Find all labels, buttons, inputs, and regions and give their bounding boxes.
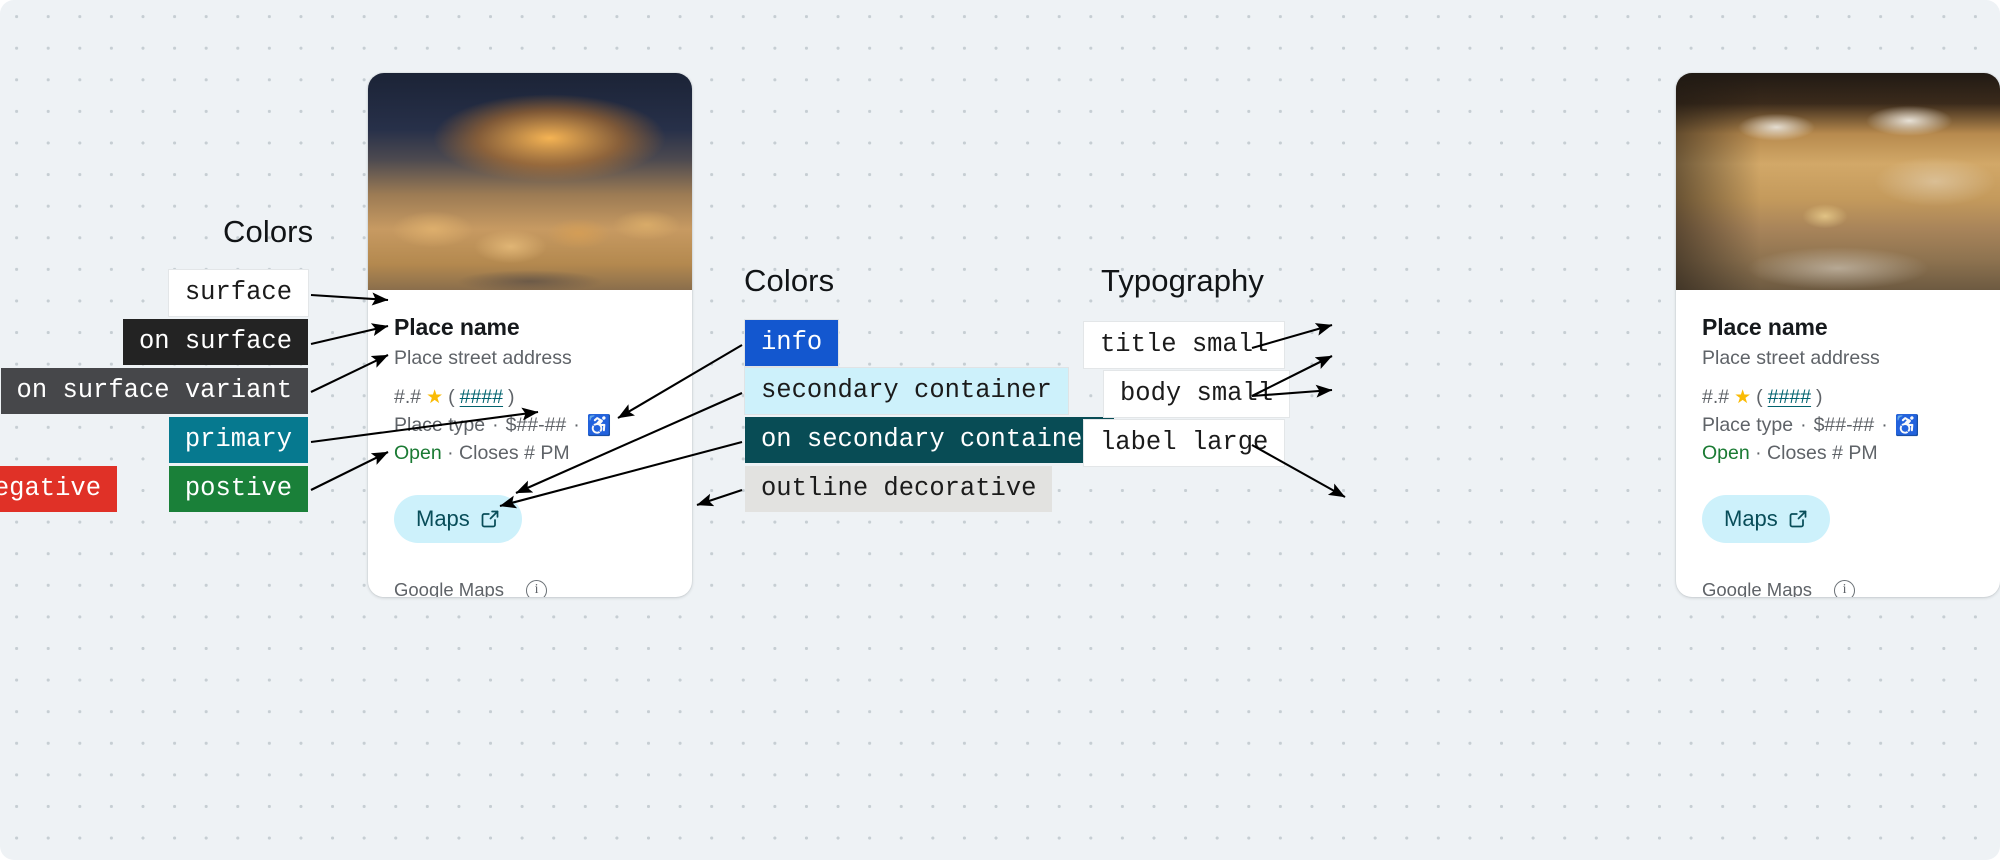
star-icon: ★ — [426, 388, 443, 407]
color-chip-positive[interactable]: postive — [169, 466, 308, 512]
info-icon[interactable]: i — [1834, 580, 1855, 598]
type-chip-label: body small — [1120, 381, 1273, 407]
color-chip-label: primary — [185, 427, 292, 453]
heading-colors-middle: Colors — [744, 263, 834, 299]
place-type: Place type — [394, 414, 485, 437]
wheelchair-icon: ♿ — [1895, 416, 1920, 436]
maps-button[interactable]: Maps — [1702, 495, 1830, 543]
color-chip-on-surface-variant[interactable]: on surface variant — [1, 368, 308, 414]
rating-paren-open: ( — [1756, 386, 1763, 409]
maps-button[interactable]: Maps — [394, 495, 522, 543]
external-link-icon — [1788, 509, 1808, 529]
color-chip-label: secondary container — [761, 378, 1052, 404]
place-hours-row: Open · Closes # PM — [1702, 442, 1974, 465]
meta-separator-2: · — [1881, 414, 1888, 437]
attribution-label: Google Maps — [1702, 579, 1812, 597]
arrow-outline-decorative — [697, 490, 742, 505]
attribution-label: Google Maps — [394, 579, 504, 597]
place-meta-row: Place type · $##-## · ♿ — [394, 414, 666, 437]
design-annotation-canvas: Colors Colors Typography surface on surf… — [0, 0, 2000, 860]
place-photo — [1676, 73, 2000, 290]
open-status: Open — [394, 442, 442, 464]
meta-separator-1: · — [1800, 414, 1807, 437]
meta-separator-1: · — [492, 414, 499, 437]
rating-paren-close: ) — [508, 386, 515, 409]
place-card-body: Place name Place street address #.# ★ (#… — [368, 290, 692, 597]
place-card-footer: Google Maps i — [1702, 579, 1974, 597]
place-address: Place street address — [394, 347, 666, 370]
color-chip-label: postive — [185, 476, 292, 502]
info-icon[interactable]: i — [526, 580, 547, 598]
hours-separator: · — [1755, 442, 1762, 464]
closing-time: Closes # PM — [459, 442, 570, 464]
place-type: Place type — [1702, 414, 1793, 437]
place-name: Place name — [394, 314, 666, 341]
open-status: Open — [1702, 442, 1750, 464]
color-chip-label: info — [761, 330, 822, 356]
rating-value: #.# — [1702, 386, 1729, 409]
color-chip-on-secondary-container[interactable]: on secondary container — [745, 417, 1114, 463]
color-chip-label: on secondary container — [761, 427, 1098, 453]
rating-count-link[interactable]: #### — [1768, 386, 1811, 409]
place-hours-row: Open · Closes # PM — [394, 442, 666, 465]
hours-separator: · — [447, 442, 454, 464]
star-icon: ★ — [1734, 388, 1751, 407]
place-address: Place street address — [1702, 347, 1974, 370]
place-card-right: Place name Place street address #.# ★ (#… — [1676, 73, 2000, 597]
external-link-icon — [480, 509, 500, 529]
type-chip-label: label large — [1100, 430, 1268, 456]
type-chip-label: title small — [1100, 332, 1268, 358]
color-chip-negative[interactable]: negative — [0, 466, 117, 512]
place-card-body: Place name Place street address #.# ★ (#… — [1676, 290, 2000, 597]
color-chip-surface[interactable]: surface — [169, 270, 308, 316]
rating-paren-open: ( — [448, 386, 455, 409]
type-chip-body-small[interactable]: body small — [1104, 371, 1289, 417]
color-chip-label: surface — [185, 280, 292, 306]
color-chip-label: outline decorative — [761, 476, 1036, 502]
maps-button-label: Maps — [1724, 506, 1778, 532]
place-name: Place name — [1702, 314, 1974, 341]
place-card-middle: Place name Place street address #.# ★ (#… — [368, 73, 692, 597]
type-chip-label-large[interactable]: label large — [1084, 420, 1284, 466]
place-price: $##-## — [506, 414, 567, 437]
closing-time: Closes # PM — [1767, 442, 1878, 464]
color-chip-label: negative — [0, 476, 101, 502]
color-chip-label: on surface variant — [17, 378, 292, 404]
color-chip-info[interactable]: info — [745, 320, 838, 366]
place-rating-row: #.# ★ (####) — [394, 386, 666, 409]
place-rating-row: #.# ★ (####) — [1702, 386, 1974, 409]
maps-button-label: Maps — [416, 506, 470, 532]
place-photo — [368, 73, 692, 290]
rating-value: #.# — [394, 386, 421, 409]
color-chip-outline-decorative[interactable]: outline decorative — [745, 466, 1052, 512]
color-chip-secondary-container[interactable]: secondary container — [745, 368, 1068, 414]
type-chip-title-small[interactable]: title small — [1084, 322, 1284, 368]
meta-separator-2: · — [573, 414, 580, 437]
place-card-footer: Google Maps i — [394, 579, 666, 597]
color-chip-on-surface[interactable]: on surface — [123, 319, 308, 365]
place-meta-row: Place type · $##-## · ♿ — [1702, 414, 1974, 437]
rating-paren-close: ) — [1816, 386, 1823, 409]
place-price: $##-## — [1814, 414, 1875, 437]
wheelchair-icon: ♿ — [587, 416, 612, 436]
heading-colors-left: Colors — [223, 214, 313, 250]
color-chip-label: on surface — [139, 329, 292, 355]
rating-count-link[interactable]: #### — [460, 386, 503, 409]
color-chip-primary[interactable]: primary — [169, 417, 308, 463]
heading-typography: Typography — [1101, 263, 1264, 299]
